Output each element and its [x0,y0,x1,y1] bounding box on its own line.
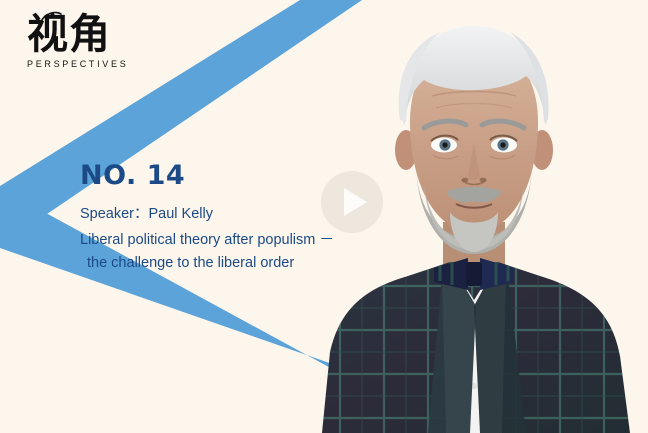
play-triangle-icon [344,188,367,216]
talk-title-line-2: the challenge to the liberal order [80,252,390,274]
talk-title: Liberal political theory after populism … [80,229,390,274]
play-button[interactable] [321,171,383,233]
video-thumbnail-card[interactable]: 视角 PERSPECTIVES NO. 14 Speaker：Paul Kell… [0,0,648,433]
perspectives-logo: 视角 PERSPECTIVES [27,14,135,72]
logo-subtitle: PERSPECTIVES [27,59,135,69]
eye-brow-icon [40,11,62,24]
bowtie [434,258,514,290]
talk-title-line-1: Liberal political theory after populism … [80,232,334,248]
